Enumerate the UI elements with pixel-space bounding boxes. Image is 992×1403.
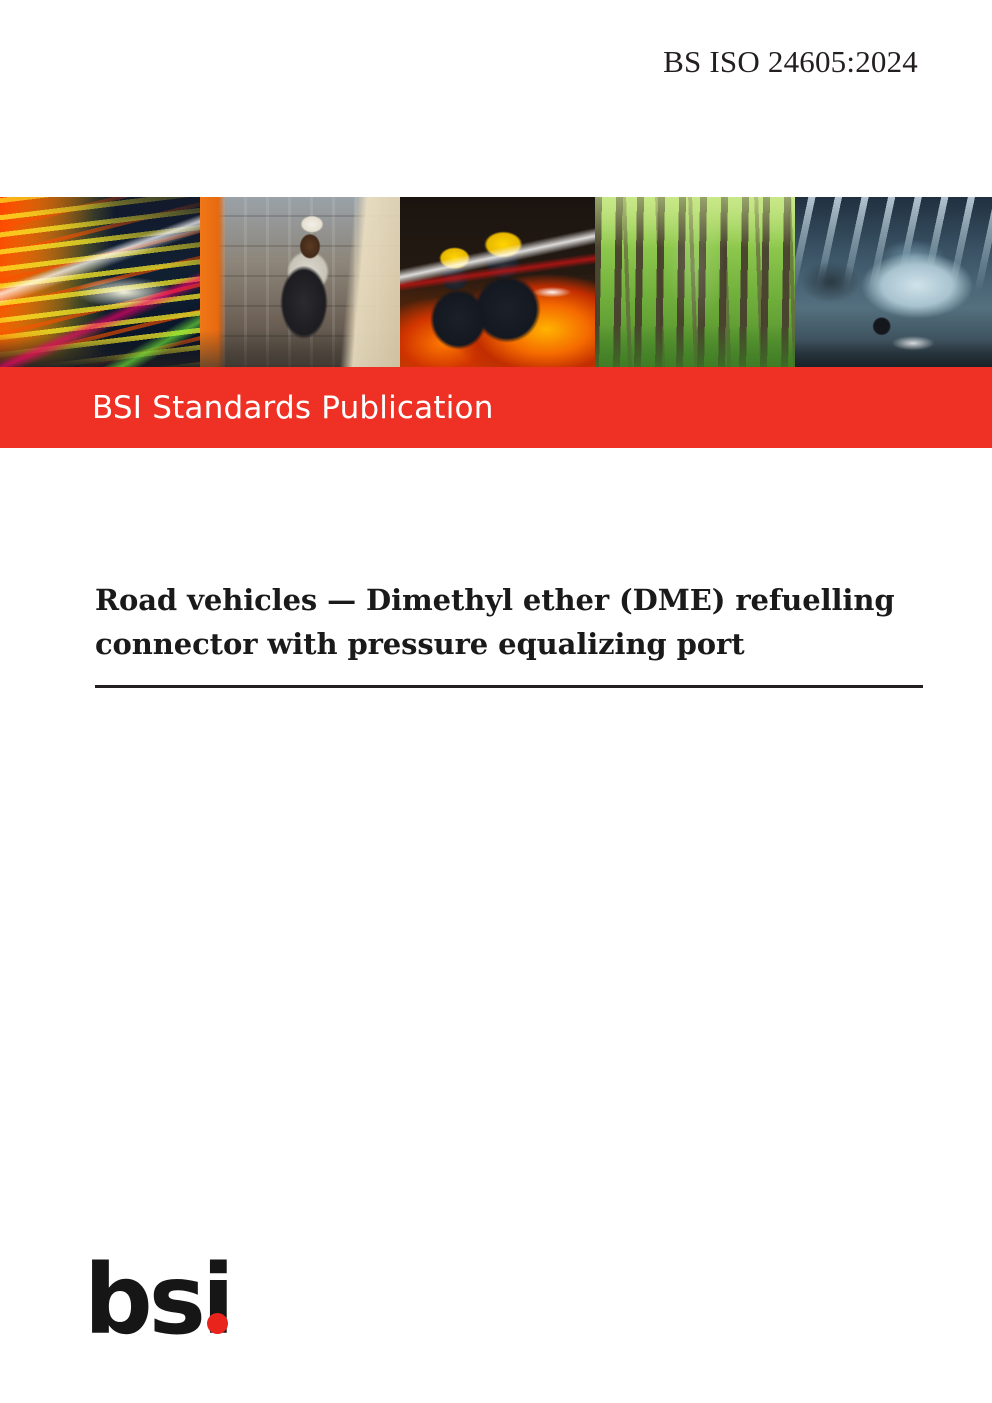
document-number: BS ISO 24605:2024 (663, 44, 918, 80)
publication-banner: BSI Standards Publication (0, 367, 992, 448)
photo-panel-warehouse-worker (200, 197, 400, 367)
photo-panel-car-assembly-line (795, 197, 992, 367)
photo-panel-firefighters (400, 197, 595, 367)
title-block: Road vehicles — Dimethyl ether (DME) ref… (95, 578, 923, 688)
page-title: Road vehicles — Dimethyl ether (DME) ref… (95, 578, 923, 666)
bsi-logo: bsi (84, 1262, 284, 1338)
cover-photo-strip (0, 197, 992, 367)
photo-panel-forest (595, 197, 795, 367)
title-divider (95, 685, 923, 688)
bsi-logo-dot-icon (207, 1313, 228, 1334)
publication-banner-label: BSI Standards Publication (92, 390, 494, 426)
photo-panel-night-traffic-light-trails (0, 197, 200, 367)
bsi-logo-wordmark: bsi (84, 1244, 231, 1356)
